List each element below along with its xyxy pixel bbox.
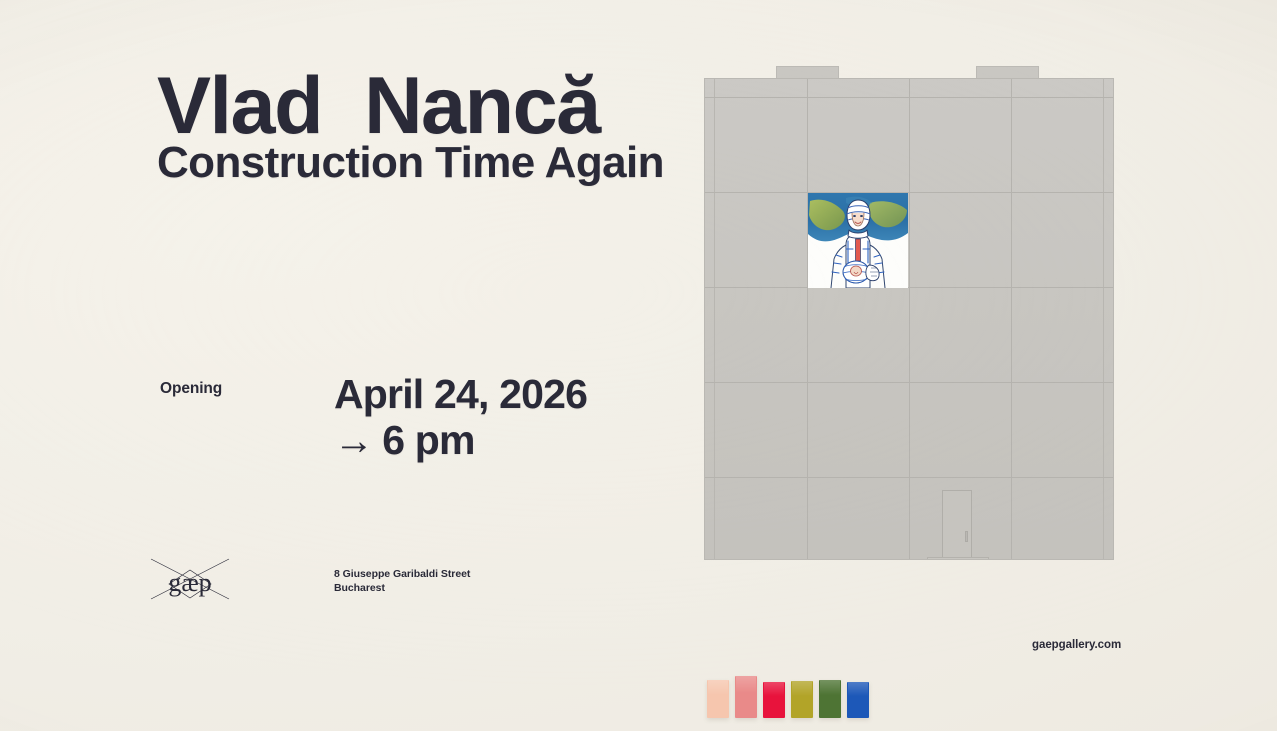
page-title: Vlad Nancă bbox=[157, 66, 600, 147]
building-model bbox=[704, 66, 1122, 582]
entrance-step bbox=[927, 557, 989, 560]
facade-grid-line-h1 bbox=[705, 97, 1113, 98]
gaep-logo[interactable]: gæp bbox=[149, 553, 231, 605]
website-link[interactable]: gaepgallery.com bbox=[1032, 639, 1121, 651]
exhibition-subtitle: Construction Time Again bbox=[157, 139, 664, 187]
building-facade bbox=[704, 78, 1114, 560]
swatch-olive bbox=[791, 681, 813, 718]
cosmonaut-illustration bbox=[808, 193, 908, 288]
facade-edge-right bbox=[1103, 79, 1104, 559]
opening-time-row: → 6 pm bbox=[334, 418, 475, 464]
facade-grid-line-h4 bbox=[705, 382, 1113, 383]
colour-swatch-row bbox=[707, 676, 869, 718]
exhibition-poster: Vlad Nancă Construction Time Again Openi… bbox=[0, 0, 1277, 731]
opening-time-value: 6 pm bbox=[382, 418, 475, 464]
swatch-red bbox=[763, 682, 785, 718]
swatch-salmon bbox=[735, 676, 757, 718]
astronaut-artwork-panel[interactable] bbox=[808, 193, 908, 288]
swatch-blue bbox=[847, 682, 869, 718]
swatch-peach bbox=[707, 680, 729, 718]
opening-label: Opening bbox=[160, 380, 222, 398]
facade-edge-left bbox=[714, 79, 715, 559]
facade-grid-line-v1 bbox=[807, 79, 808, 559]
swatch-green bbox=[819, 680, 841, 718]
arrow-right-icon: → bbox=[334, 421, 373, 461]
facade-grid-line-v2 bbox=[909, 79, 910, 559]
entrance-door[interactable] bbox=[942, 490, 972, 560]
gaep-logo-mark: gæp bbox=[149, 553, 231, 605]
gaep-logo-text: gæp bbox=[168, 568, 211, 597]
facade-grid-line-h2 bbox=[705, 192, 1113, 193]
facade-grid-line-h3 bbox=[705, 287, 1113, 288]
door-handle-icon bbox=[965, 531, 968, 542]
opening-date: April 24, 2026 bbox=[334, 372, 587, 418]
venue-address: 8 Giuseppe Garibaldi Street Bucharest bbox=[334, 568, 470, 595]
facade-grid-line-v3 bbox=[1011, 79, 1012, 559]
facade-grid-line-h5 bbox=[705, 477, 1113, 478]
